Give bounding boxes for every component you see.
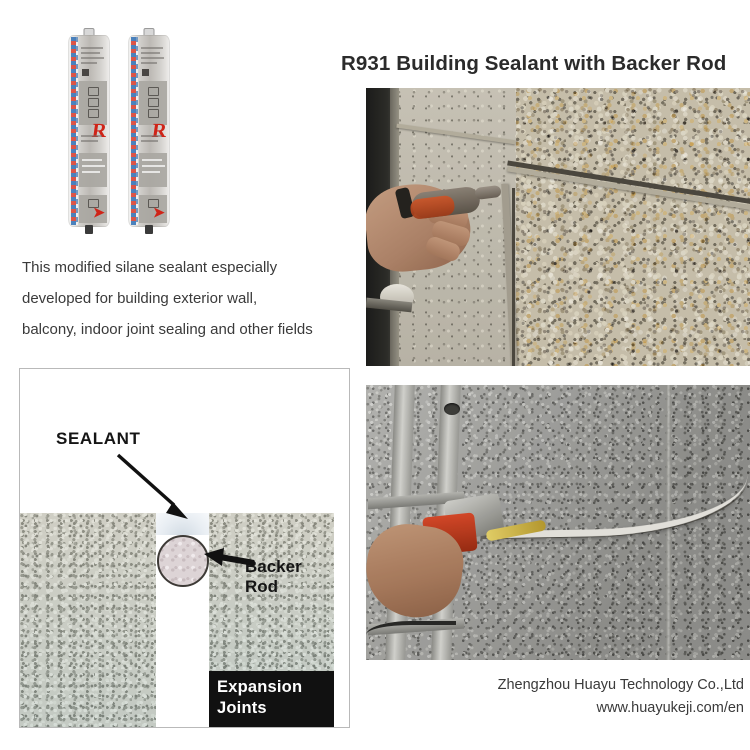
description-line-3: balcony, indoor joint sealing and other … bbox=[22, 314, 352, 345]
application-photo-bottom bbox=[366, 385, 750, 660]
backer-rod-arrow-icon bbox=[202, 547, 256, 575]
brand-swoosh-icon: ➤ bbox=[153, 207, 164, 221]
description-line-1: This modified silane sealant especially bbox=[22, 252, 352, 283]
brand-swoosh-icon: ➤ bbox=[93, 207, 104, 221]
product-cartridge-group: R ➤ bbox=[62, 28, 186, 236]
sealant-cartridge-1: R ➤ bbox=[68, 28, 110, 234]
poster-canvas: R ➤ bbox=[0, 0, 750, 750]
application-photo-top bbox=[366, 88, 750, 366]
cartridge-icon bbox=[148, 109, 159, 118]
cartridge-qr-code bbox=[82, 69, 89, 76]
cartridge-bottom-clip bbox=[145, 225, 153, 234]
expansion-joints-label: Expansion Joints bbox=[217, 677, 302, 719]
page-title: R931 Building Sealant with Backer Rod bbox=[341, 52, 726, 76]
cartridge-qr-code bbox=[142, 69, 149, 76]
cartridge-icon bbox=[88, 109, 99, 118]
sealant-label: SEALANT bbox=[56, 429, 140, 449]
expansion-joints-band: Expansion Joints bbox=[209, 671, 334, 727]
sealant-arrow-icon bbox=[116, 453, 196, 523]
cartridge-icon bbox=[148, 87, 159, 96]
cartridge-bottom-clip bbox=[85, 225, 93, 234]
company-website[interactable]: www.huayukeji.com/en bbox=[498, 697, 744, 720]
cartridge-body: R ➤ bbox=[128, 35, 170, 227]
company-footer: Zhengzhou Huayu Technology Co.,Ltd www.h… bbox=[498, 674, 744, 720]
cartridge-icon bbox=[88, 87, 99, 96]
company-name: Zhengzhou Huayu Technology Co.,Ltd bbox=[498, 674, 744, 697]
cartridge-body: R ➤ bbox=[68, 35, 110, 227]
product-description: This modified silane sealant especially … bbox=[22, 252, 352, 345]
concrete-block-left bbox=[20, 513, 156, 727]
cartridge-stripe-secondary bbox=[76, 37, 78, 225]
cartridge-icon bbox=[88, 98, 99, 107]
expansion-joint-diagram: Expansion Joints SEALANT Backer Rod bbox=[19, 368, 350, 728]
cartridge-icon bbox=[148, 98, 159, 107]
description-line-2: developed for building exterior wall, bbox=[22, 283, 352, 314]
cartridge-stripe-secondary bbox=[136, 37, 138, 225]
sealant-cartridge-2: R ➤ bbox=[128, 28, 170, 234]
